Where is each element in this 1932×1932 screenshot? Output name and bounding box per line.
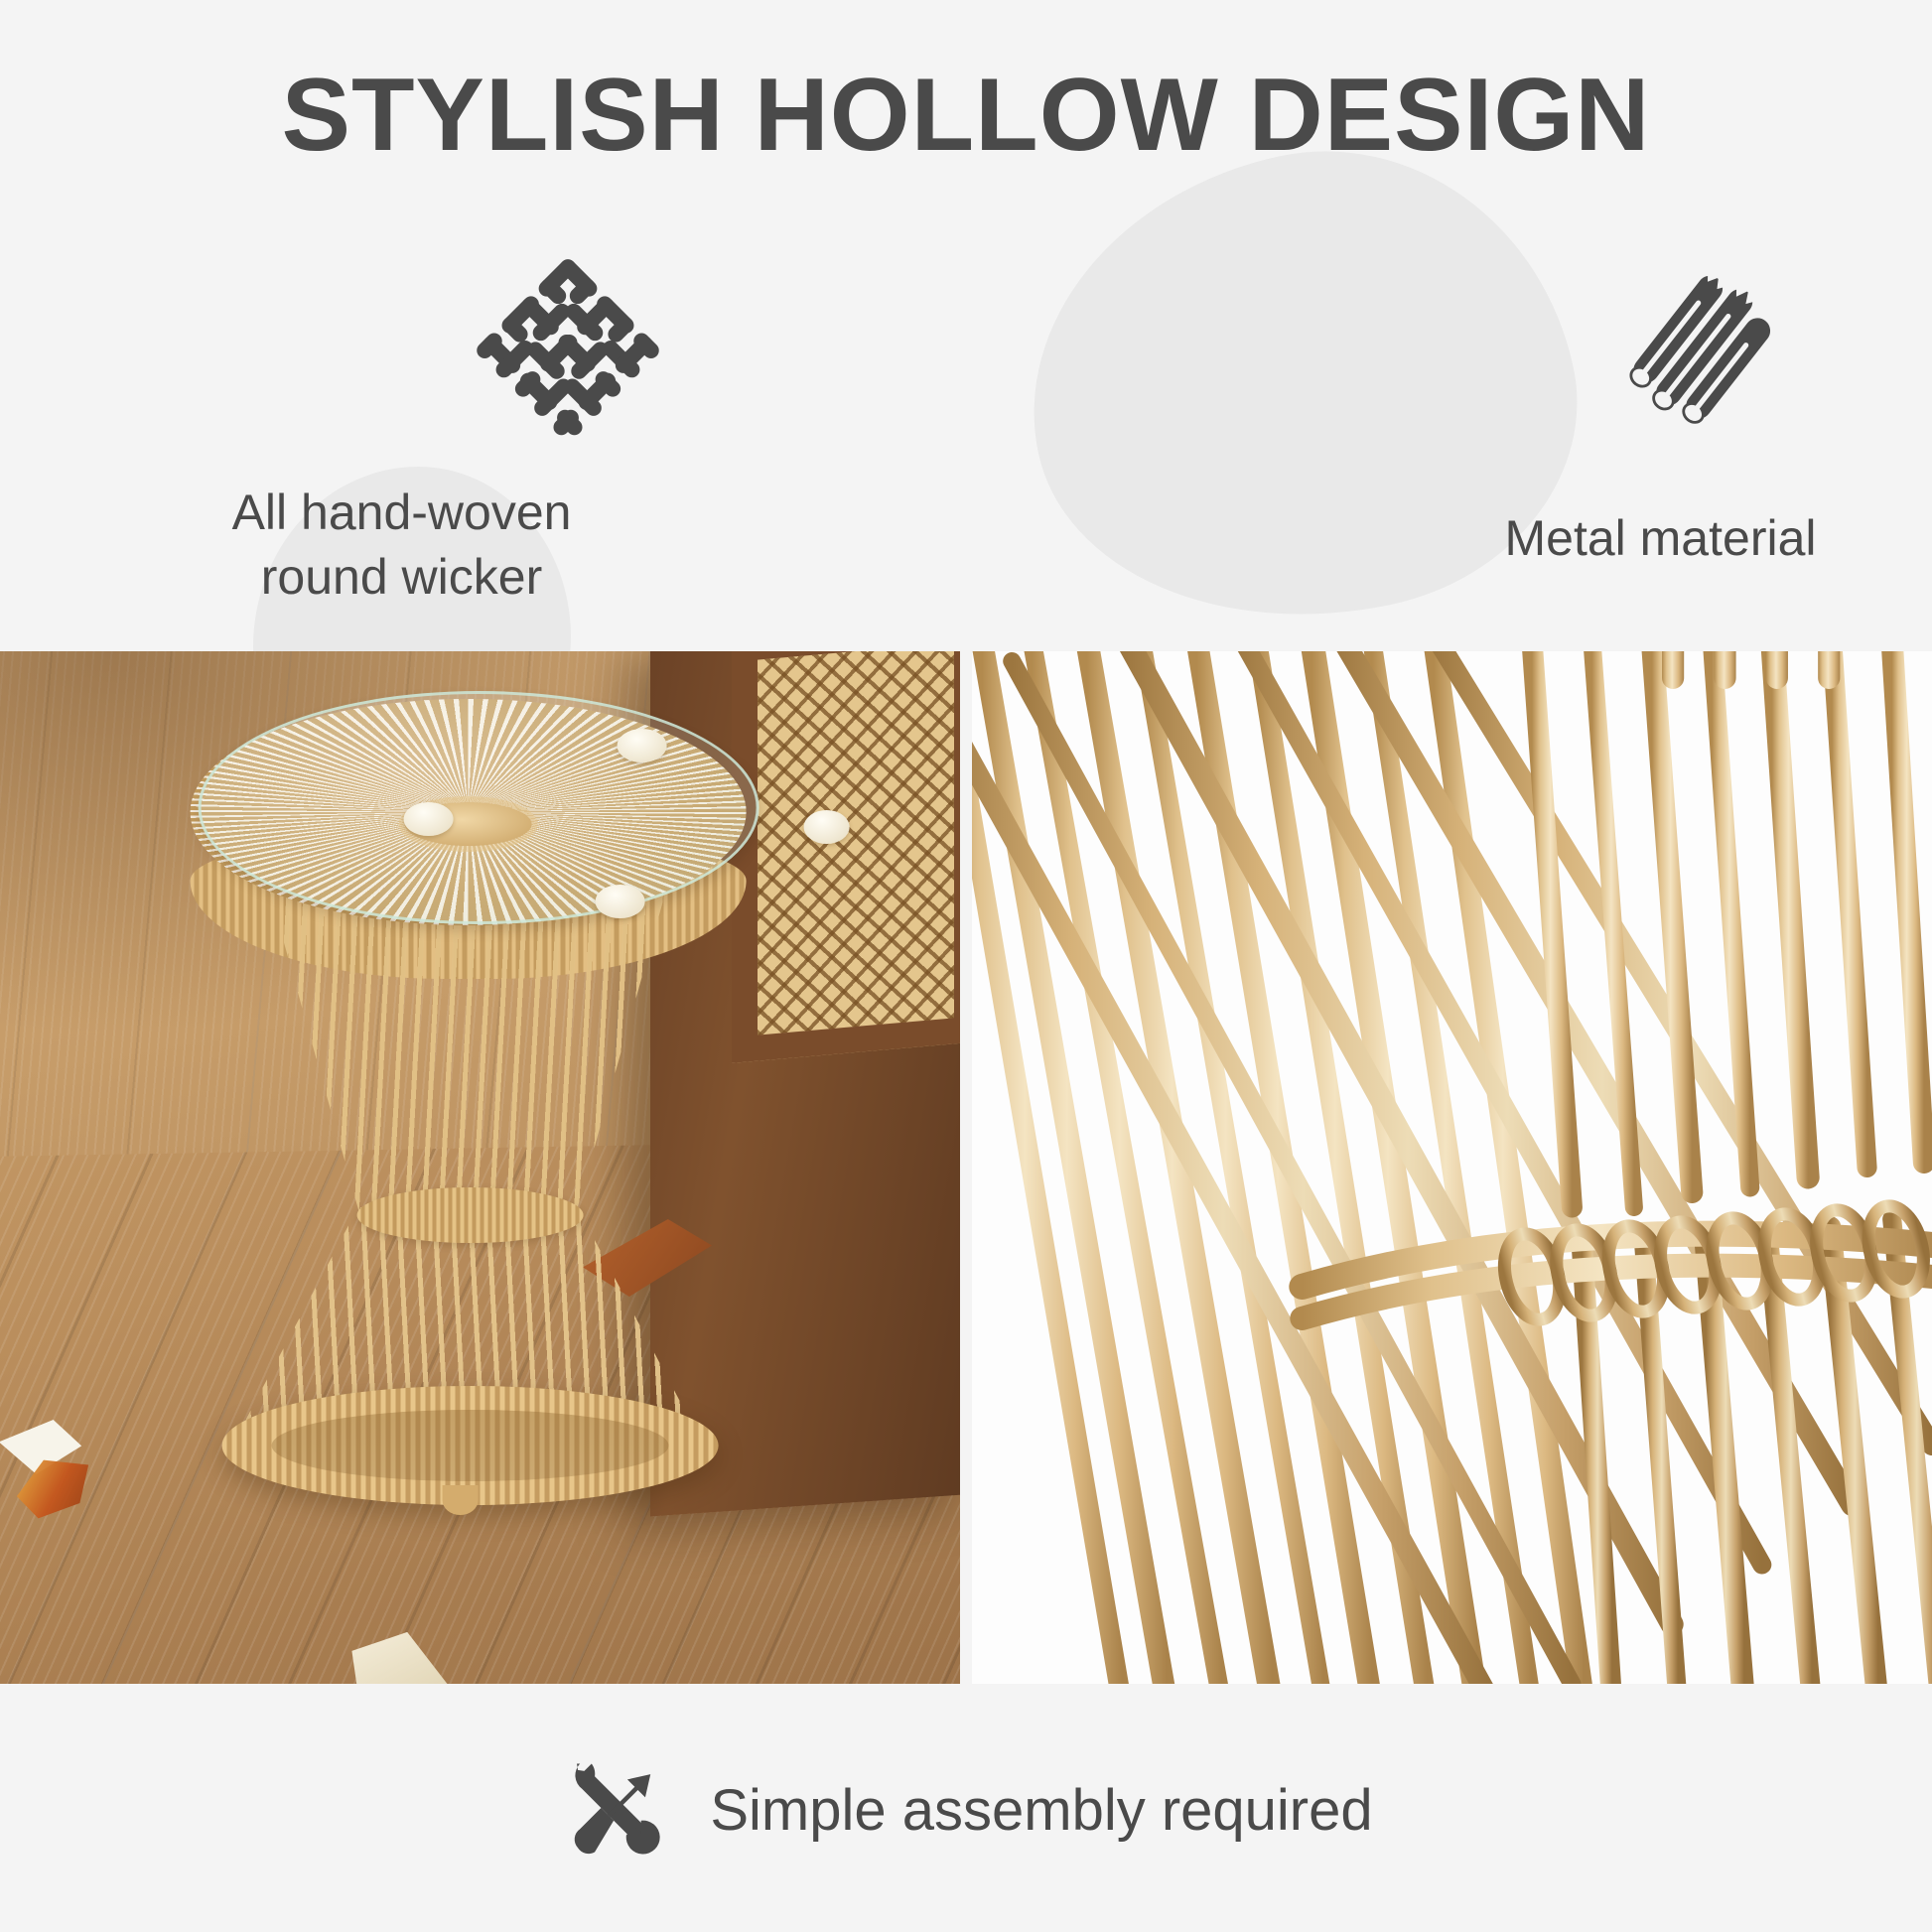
rattan-side-table [160, 691, 775, 1475]
glass-pad-3 [803, 810, 849, 844]
macro-strands [972, 651, 1932, 1684]
photo-gallery [0, 651, 1932, 1684]
metal-tubes-icon [1608, 268, 1807, 457]
feature-hand-woven-label: All hand-woven round wicker [232, 481, 572, 610]
table-waist-ring [356, 1187, 583, 1243]
table-base-inner [271, 1410, 668, 1481]
page-title: STYLISH HOLLOW DESIGN [0, 60, 1932, 171]
rattan-side-table-on-deck-photo [0, 651, 960, 1684]
feature-hand-woven: All hand-woven round wicker [0, 228, 966, 645]
feature-row: All hand-woven round wicker [0, 228, 1932, 645]
table-upper-cone [269, 890, 666, 1217]
glass-pad-4 [595, 885, 644, 918]
glass-pad-2 [403, 802, 453, 836]
table-base-nub [442, 1485, 478, 1515]
wrench-screwdriver-icon [559, 1755, 664, 1865]
feature-metal-material: Metal material [966, 228, 1932, 645]
page-title-bar: STYLISH HOLLOW DESIGN [0, 60, 1932, 171]
infographic-page: STYLISH HOLLOW DESIGN [0, 0, 1932, 1932]
assembly-note: Simple assembly required [0, 1688, 1932, 1932]
wicker-weave-closeup-photo [972, 651, 1932, 1684]
basket-weave-icon [464, 256, 672, 445]
assembly-note-label: Simple assembly required [710, 1777, 1372, 1844]
feature-metal-material-label: Metal material [1505, 506, 1817, 571]
glass-pad-1 [617, 729, 666, 762]
